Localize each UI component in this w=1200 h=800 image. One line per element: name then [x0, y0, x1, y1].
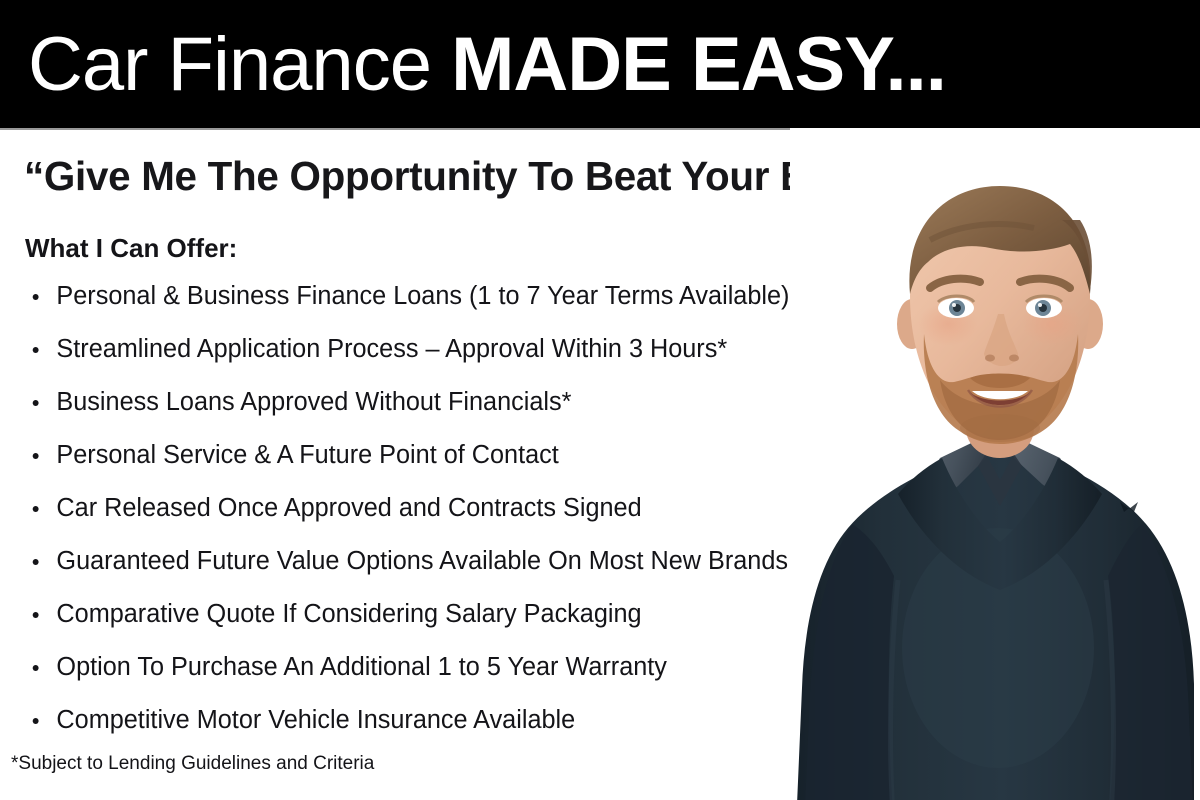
eye-left	[938, 296, 974, 318]
list-item-label: Personal & Business Finance Loans (1 to …	[56, 282, 789, 310]
bullet-icon	[33, 294, 39, 300]
list-item-label: Option To Purchase An Additional 1 to 5 …	[56, 653, 666, 681]
list-item: Car Released Once Approved and Contracts…	[0, 489, 871, 542]
list-item-label: Comparative Quote If Considering Salary …	[56, 600, 641, 628]
list-item-label: Personal Service & A Future Point of Con…	[56, 441, 558, 469]
list-item: Streamlined Application Process – Approv…	[0, 330, 871, 383]
eye-right	[1026, 296, 1062, 318]
list-item: Personal Service & A Future Point of Con…	[0, 436, 871, 489]
offer-subheading: What I Can Offer:	[25, 232, 237, 264]
bullet-icon	[33, 665, 39, 671]
bullet-icon	[33, 559, 39, 565]
list-item-label: Competitive Motor Vehicle Insurance Avai…	[56, 706, 575, 734]
headline-light-part: Car Finance	[28, 22, 451, 107]
list-item-label: Streamlined Application Process – Approv…	[56, 335, 727, 363]
header-bar: Car Finance MADE EASY...	[0, 0, 1200, 128]
portrait-photo	[790, 128, 1200, 800]
footnote-disclaimer: *Subject to Lending Guidelines and Crite…	[11, 752, 374, 776]
list-item: Guaranteed Future Value Options Availabl…	[0, 542, 871, 595]
list-item: Personal & Business Finance Loans (1 to …	[0, 277, 871, 330]
list-item: Option To Purchase An Additional 1 to 5 …	[0, 648, 871, 701]
list-item: Business Loans Approved Without Financia…	[0, 383, 871, 436]
bullet-icon	[33, 612, 39, 618]
bullet-icon	[33, 506, 39, 512]
advertisement-poster: Car Finance MADE EASY... “Give Me The Op…	[0, 0, 1200, 800]
offer-list: Personal & Business Finance Loans (1 to …	[0, 277, 880, 754]
list-item-label: Business Loans Approved Without Financia…	[56, 388, 571, 416]
headline-bold-part: MADE EASY...	[451, 22, 946, 107]
list-item: Comparative Quote If Considering Salary …	[0, 595, 871, 648]
list-item-label: Car Released Once Approved and Contracts…	[56, 494, 641, 522]
bullet-icon	[33, 347, 39, 353]
page-title: Car Finance MADE EASY...	[28, 17, 946, 113]
list-item: Competitive Motor Vehicle Insurance Avai…	[0, 701, 871, 754]
bullet-icon	[33, 453, 39, 459]
bullet-icon	[33, 400, 39, 406]
bullet-icon	[33, 718, 39, 724]
list-item-label: Guaranteed Future Value Options Availabl…	[56, 547, 788, 575]
